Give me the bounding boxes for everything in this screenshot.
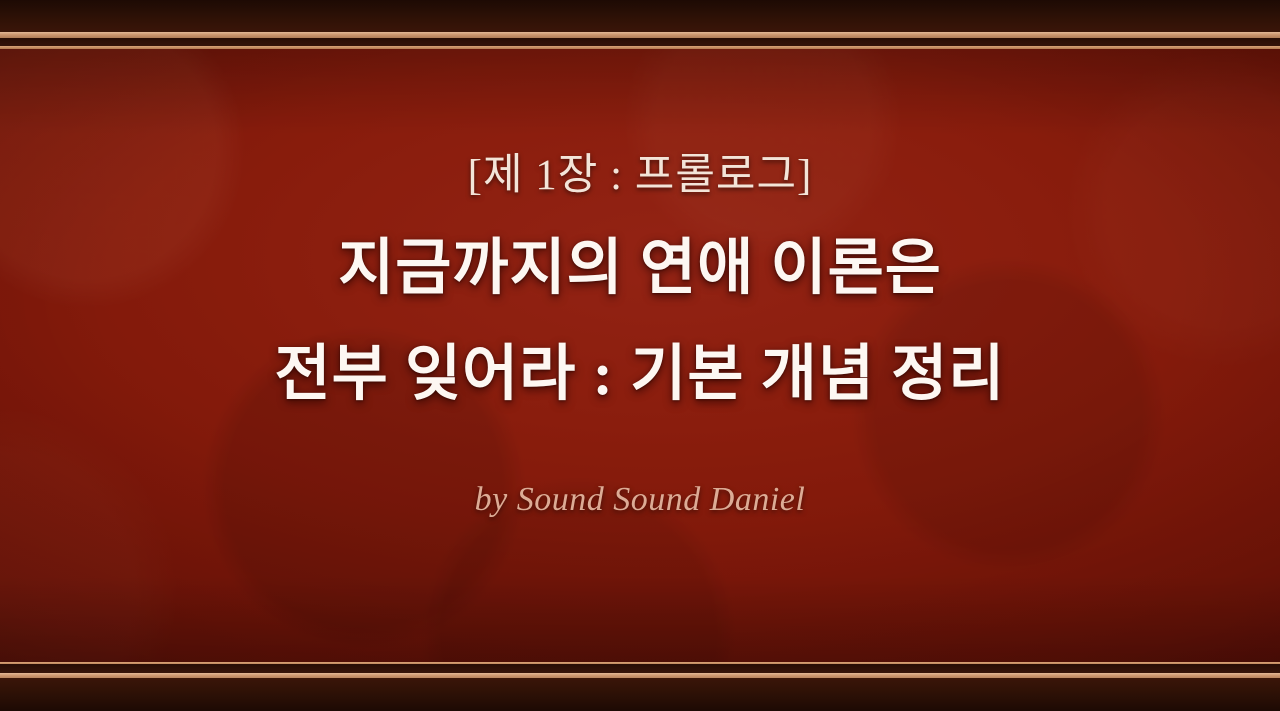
title-content: [제 1장 : 프롤로그] 지금까지의 연애 이론은 전부 잊어라 : 기본 개…: [0, 0, 1280, 711]
title-card: [제 1장 : 프롤로그] 지금까지의 연애 이론은 전부 잊어라 : 기본 개…: [0, 0, 1280, 711]
title-line-2: 전부 잊어라 : 기본 개념 정리: [275, 343, 1006, 407]
chapter-label: [제 1장 : 프롤로그]: [468, 152, 813, 199]
title-line-1: 지금까지의 연애 이론은: [338, 237, 942, 301]
byline: by Sound Sound Daniel: [475, 481, 806, 519]
